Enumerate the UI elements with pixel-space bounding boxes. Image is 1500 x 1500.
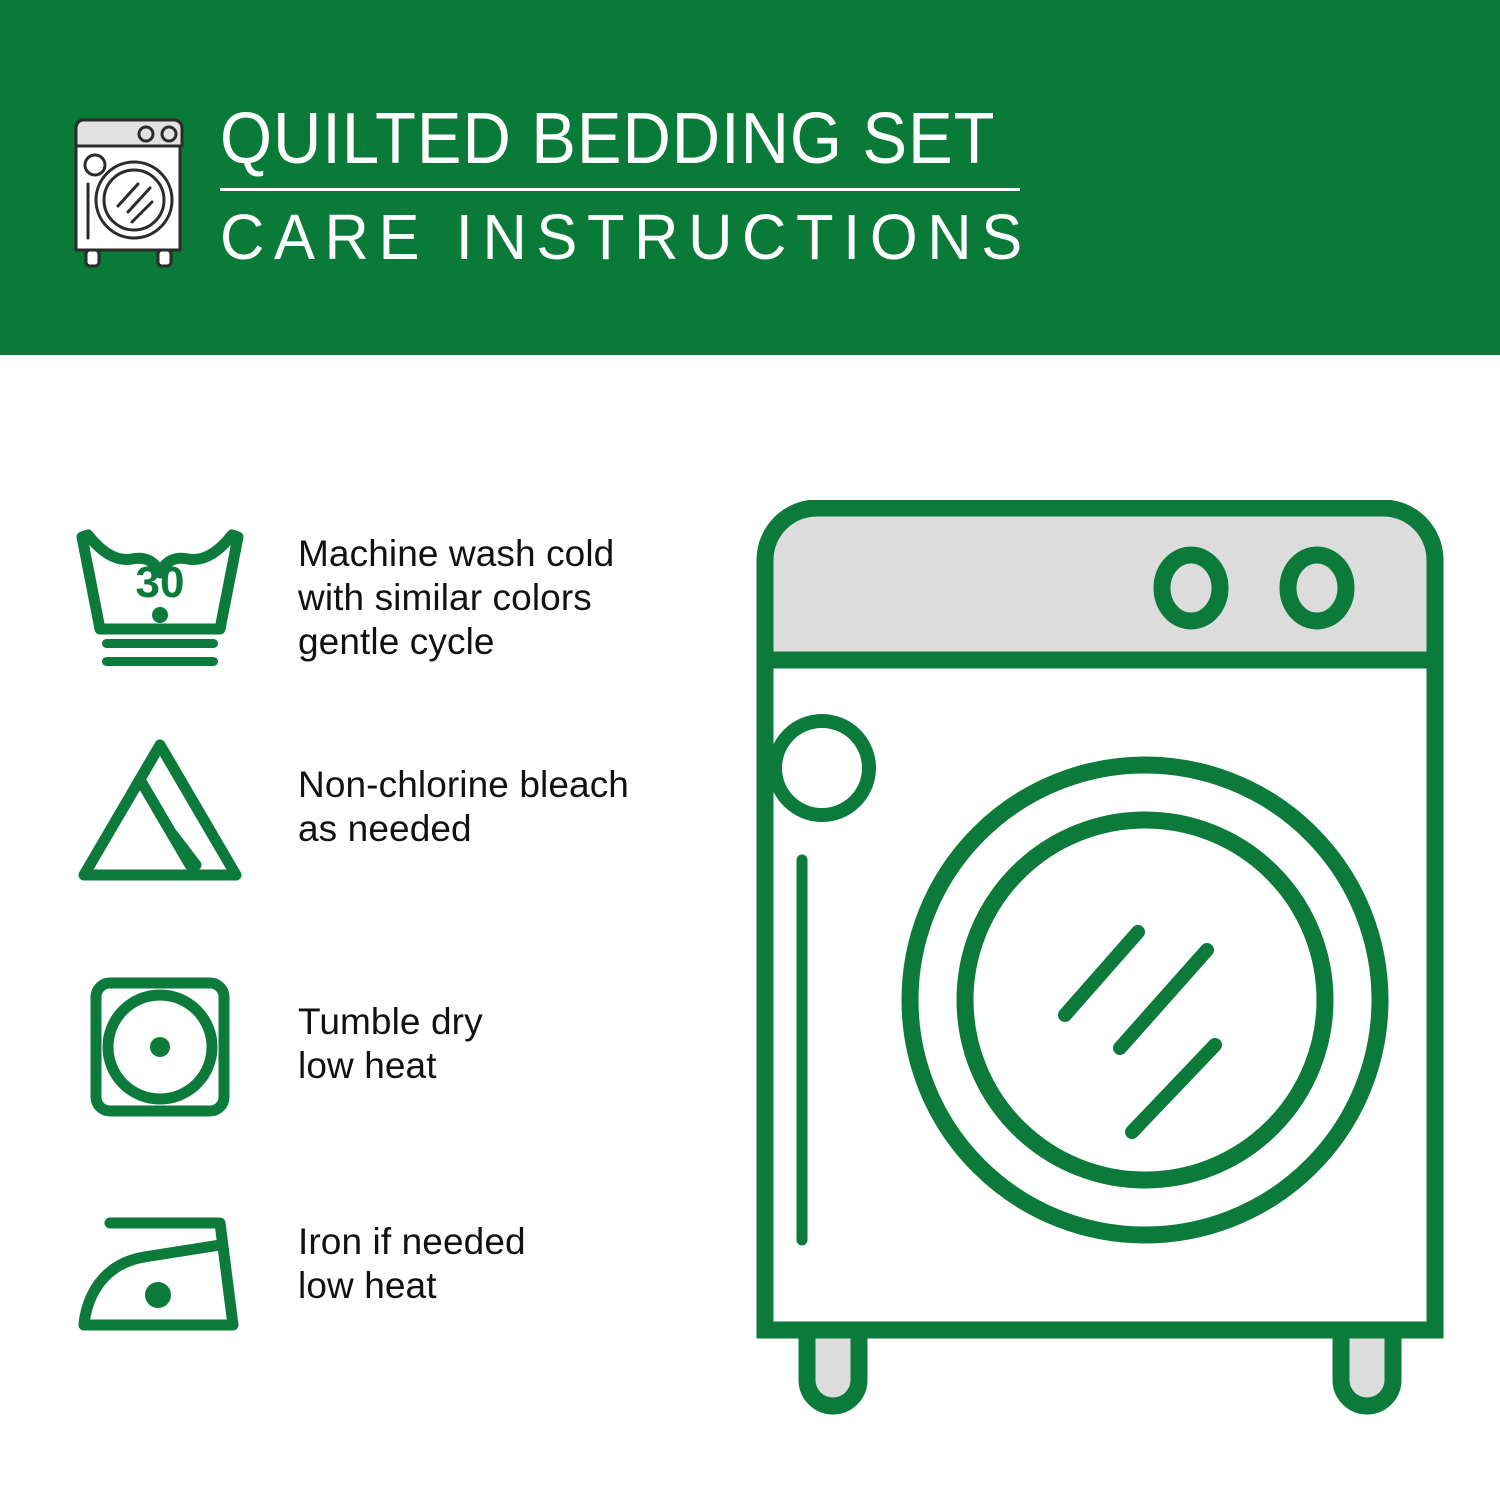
washing-machine-icon xyxy=(62,112,202,272)
care-line: low heat xyxy=(298,1044,708,1088)
machine-top-panel xyxy=(765,508,1435,660)
title-divider xyxy=(220,188,1020,191)
header-band: QUILTED BEDDING SET CARE INSTRUCTIONS xyxy=(0,0,1500,355)
care-line: with similar colors xyxy=(298,576,708,620)
machine-wash-30-gentle-icon: 30 xyxy=(70,510,250,680)
care-line: Tumble dry xyxy=(298,1000,708,1044)
page-title: QUILTED BEDDING SET xyxy=(220,100,1020,178)
care-line: as needed xyxy=(298,807,708,851)
machine-leg-left xyxy=(807,1330,859,1406)
front-load-washing-machine-illustration xyxy=(745,500,1455,1440)
care-instructions-page: QUILTED BEDDING SET CARE INSTRUCTIONS 30 xyxy=(0,0,1500,1500)
header-content: QUILTED BEDDING SET CARE INSTRUCTIONS xyxy=(62,100,1062,280)
care-item-wash-label: Machine wash cold with similar colors ge… xyxy=(298,532,708,664)
care-item-bleach-label: Non-chlorine bleach as needed xyxy=(298,763,708,851)
wash-temperature-label: 30 xyxy=(136,558,185,607)
care-line: low heat xyxy=(298,1264,708,1308)
care-item-iron-label: Iron if needed low heat xyxy=(298,1220,708,1308)
page-subtitle: CARE INSTRUCTIONS xyxy=(220,202,1046,272)
header-text-block: QUILTED BEDDING SET CARE INSTRUCTIONS xyxy=(220,100,1080,272)
care-line: Iron if needed xyxy=(298,1220,708,1264)
care-item-dry-label: Tumble dry low heat xyxy=(298,1000,708,1088)
machine-leg-right xyxy=(1341,1330,1393,1406)
care-line: Machine wash cold xyxy=(298,532,708,576)
non-chlorine-bleach-triangle-icon xyxy=(70,722,250,892)
care-line: gentle cycle xyxy=(298,620,708,664)
care-line: Non-chlorine bleach xyxy=(298,763,708,807)
iron-low-heat-icon xyxy=(70,1190,250,1360)
tumble-dry-low-icon xyxy=(70,962,250,1132)
